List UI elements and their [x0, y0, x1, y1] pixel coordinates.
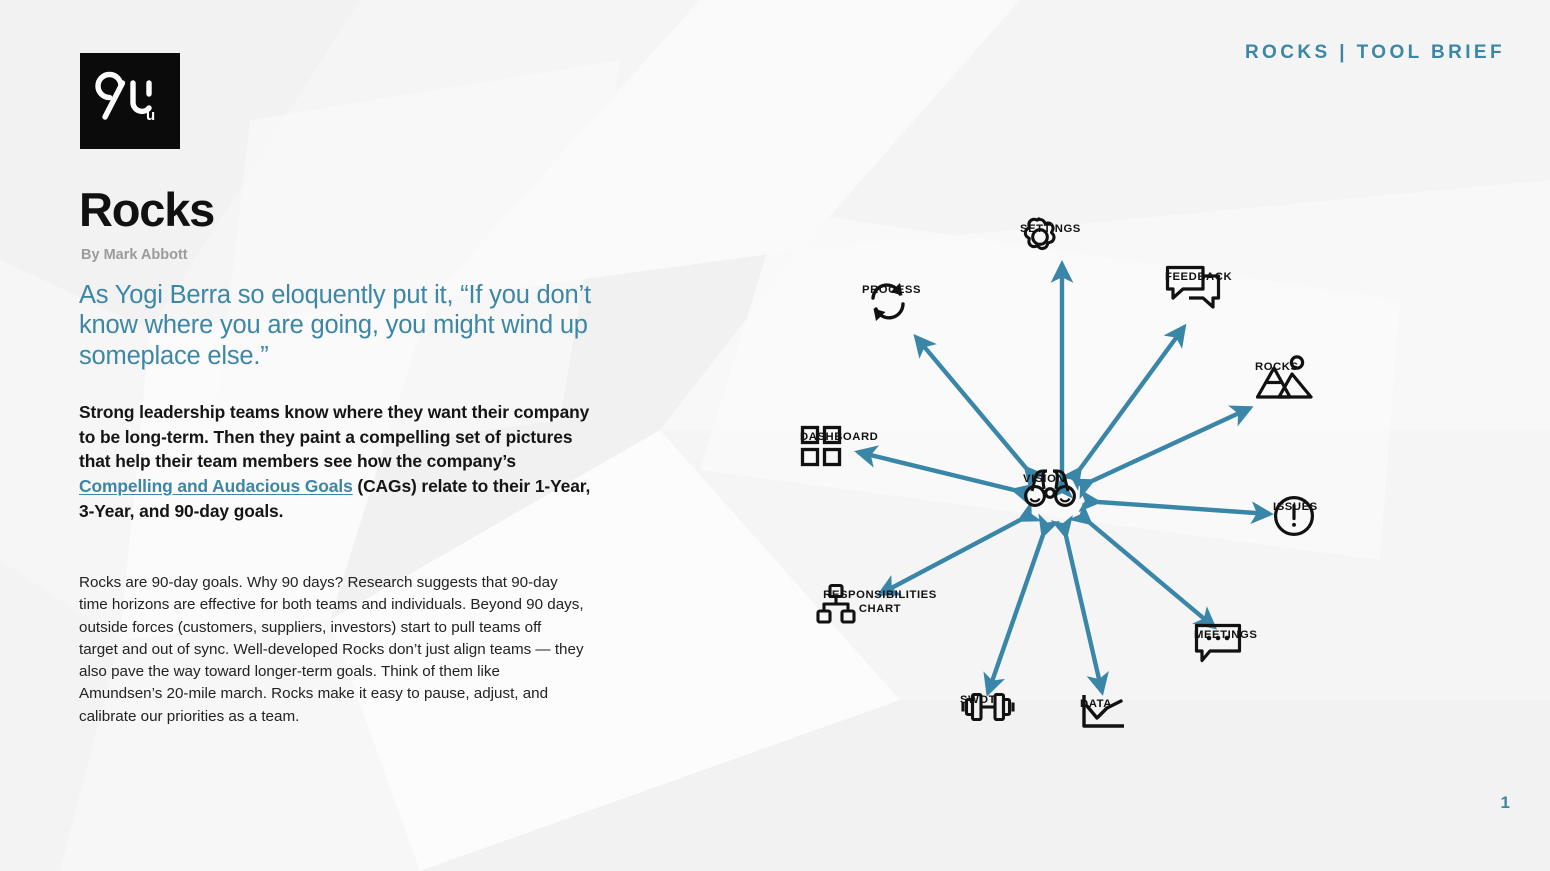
- node-dashboard[interactable]: DASHBOARD: [800, 425, 878, 444]
- node-vision[interactable]: VISION: [1023, 467, 1066, 486]
- compelling-audacious-goals-link[interactable]: Compelling and Audacious Goals: [79, 476, 353, 496]
- pull-quote: As Yogi Berra so eloquently put it, “If …: [79, 280, 599, 371]
- node-responsibilities-chart[interactable]: RESPONSIBILITIES CHART: [815, 583, 945, 616]
- page-number: 1: [1501, 793, 1510, 813]
- lead-text-part1: Strong leadership teams know where they …: [79, 402, 589, 471]
- node-meetings[interactable]: MEETINGS: [1194, 623, 1257, 642]
- node-feedback[interactable]: FEEDBACK: [1165, 265, 1232, 284]
- node-swot[interactable]: SWOT: [960, 688, 996, 707]
- ninety-u-logo-icon: u: [94, 70, 166, 132]
- tool-brief-label: ROCKS | TOOL BRIEF: [1245, 42, 1505, 64]
- node-process[interactable]: PROCESS: [862, 278, 921, 297]
- brand-logo: u: [80, 53, 180, 149]
- node-rocks[interactable]: ROCKS: [1255, 355, 1299, 374]
- node-data[interactable]: DATA: [1080, 692, 1112, 711]
- node-issues[interactable]: ISSUES: [1273, 495, 1318, 514]
- node-settings[interactable]: SETTINGS: [1020, 217, 1081, 236]
- byline: By Mark Abbott: [81, 247, 188, 263]
- body-paragraph: Rocks are 90-day goals. Why 90 days? Res…: [79, 572, 584, 728]
- page-title: Rocks: [79, 186, 214, 233]
- diagram-connectors: [770, 180, 1390, 780]
- vision-hub-diagram: VISION SETTINGS FEEDBACK: [770, 180, 1390, 780]
- svg-text:u: u: [146, 107, 155, 124]
- lead-paragraph: Strong leadership teams know where they …: [79, 400, 591, 524]
